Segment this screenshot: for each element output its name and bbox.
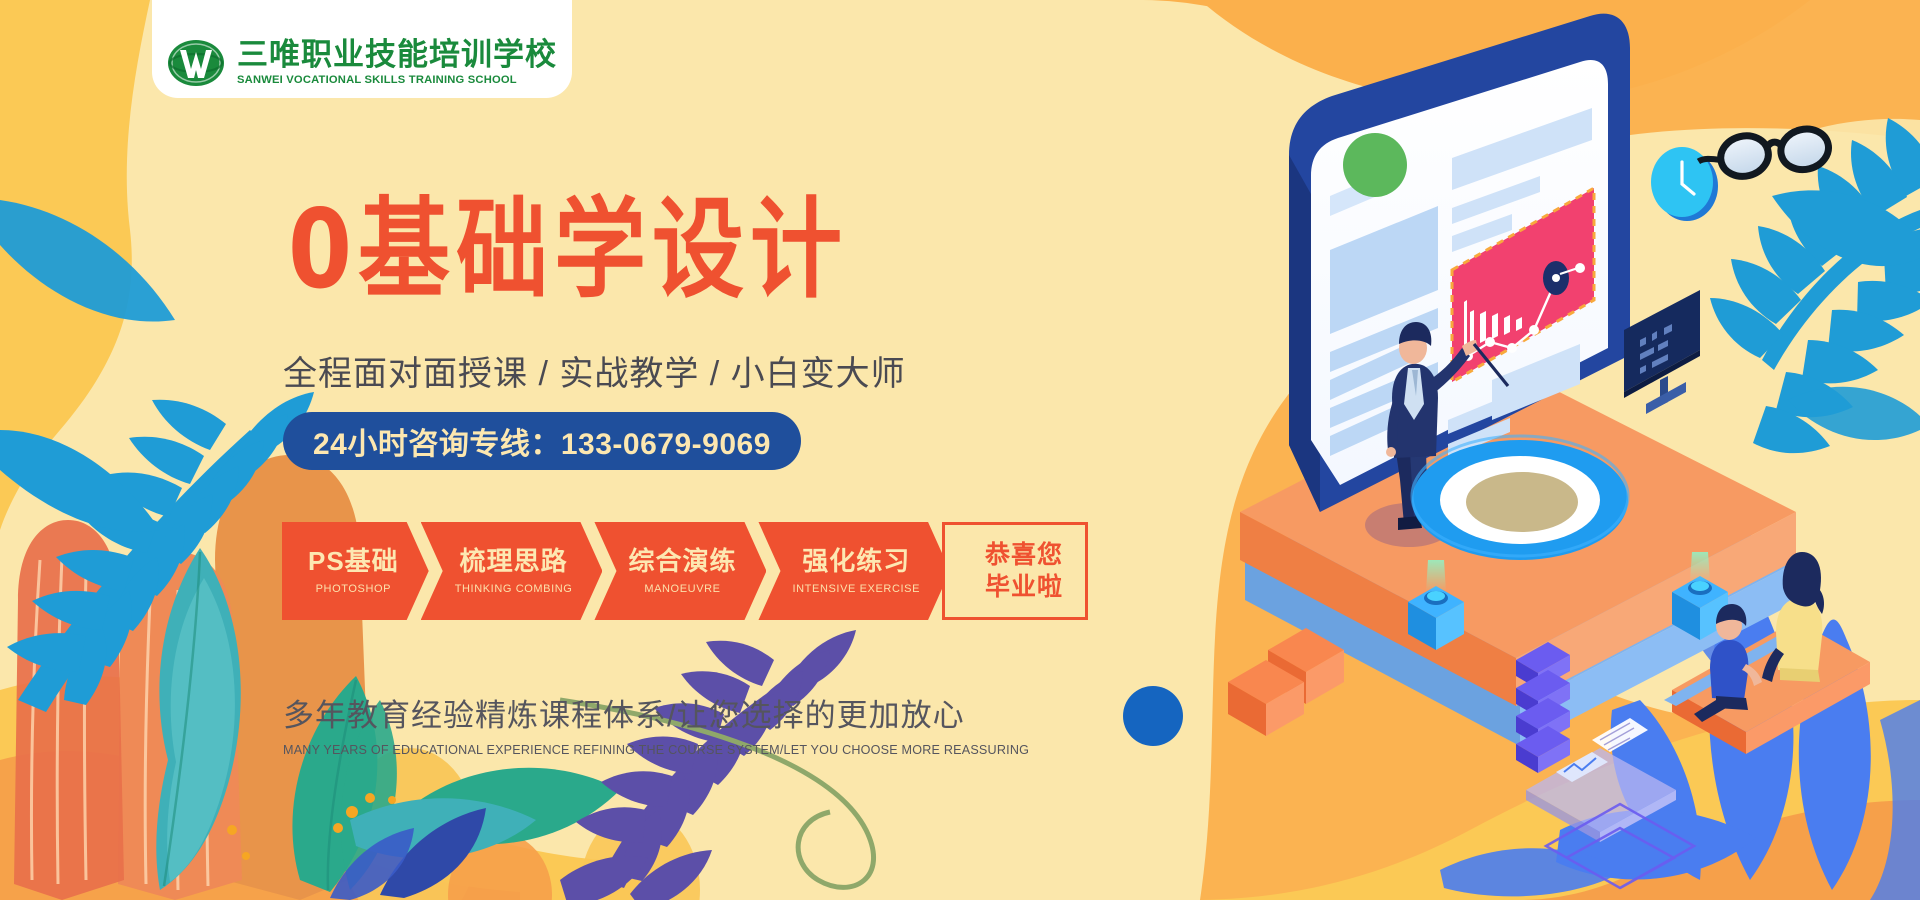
step-item-2[interactable]: 梳理思路 THINKING COMBING xyxy=(421,522,603,620)
hotline-text: 24小时咨询专线：133-0679-9069 xyxy=(313,419,771,463)
logo-name-cn: 三唯职业技能培训学校 xyxy=(237,39,557,70)
logo-w-emblem-icon xyxy=(167,38,225,88)
step-item-5-graduation[interactable]: 恭喜您 毕业啦 xyxy=(942,522,1088,620)
course-steps: PS基础 PHOTOSHOP 梳理思路 THINKING COMBING 综合演… xyxy=(282,522,1080,620)
tagline-cn: 多年教育经验精炼课程体系/让您选择的更加放心 xyxy=(283,690,1029,735)
step-item-3[interactable]: 综合演练 MANOEUVRE xyxy=(594,522,766,620)
green-dot-accent xyxy=(1343,133,1407,197)
page-title: 0基础学设计 xyxy=(288,196,848,305)
step-item-4[interactable]: 强化练习 INTENSIVE EXERCISE xyxy=(758,522,950,620)
step-label-en: MANOEUVRE xyxy=(644,583,720,595)
step-label-cn-2: 毕业啦 xyxy=(985,571,1063,603)
step-label-cn: 恭喜您 xyxy=(985,539,1063,571)
promo-banner: 三唯职业技能培训学校 SANWEI VOCATIONAL SKILLS TRAI… xyxy=(0,0,1920,900)
step-label-en: INTENSIVE EXERCISE xyxy=(792,583,920,595)
step-label-cn: 强化练习 xyxy=(802,548,910,574)
tagline-en: MANY YEARS OF EDUCATIONAL EXPERIENCE REF… xyxy=(283,743,1029,757)
step-label-cn: 梳理思路 xyxy=(460,548,568,574)
logo-name-en: SANWEI VOCATIONAL SKILLS TRAINING SCHOOL xyxy=(237,75,557,86)
hotline-badge[interactable]: 24小时咨询专线：133-0679-9069 xyxy=(283,412,801,470)
step-item-1[interactable]: PS基础 PHOTOSHOP xyxy=(282,522,429,620)
step-label-en: THINKING COMBING xyxy=(455,583,573,595)
step-label-cn: 综合演练 xyxy=(628,548,736,574)
step-label-en: PHOTOSHOP xyxy=(316,583,392,595)
step-label-cn: PS基础 xyxy=(308,548,399,574)
school-logo-card[interactable]: 三唯职业技能培训学校 SANWEI VOCATIONAL SKILLS TRAI… xyxy=(152,0,572,98)
bottom-tagline: 多年教育经验精炼课程体系/让您选择的更加放心 MANY YEARS OF EDU… xyxy=(283,690,1029,757)
blue-dot-accent xyxy=(1123,686,1183,746)
subtitle: 全程面对面授课 / 实战教学 / 小白变大师 xyxy=(283,346,906,395)
